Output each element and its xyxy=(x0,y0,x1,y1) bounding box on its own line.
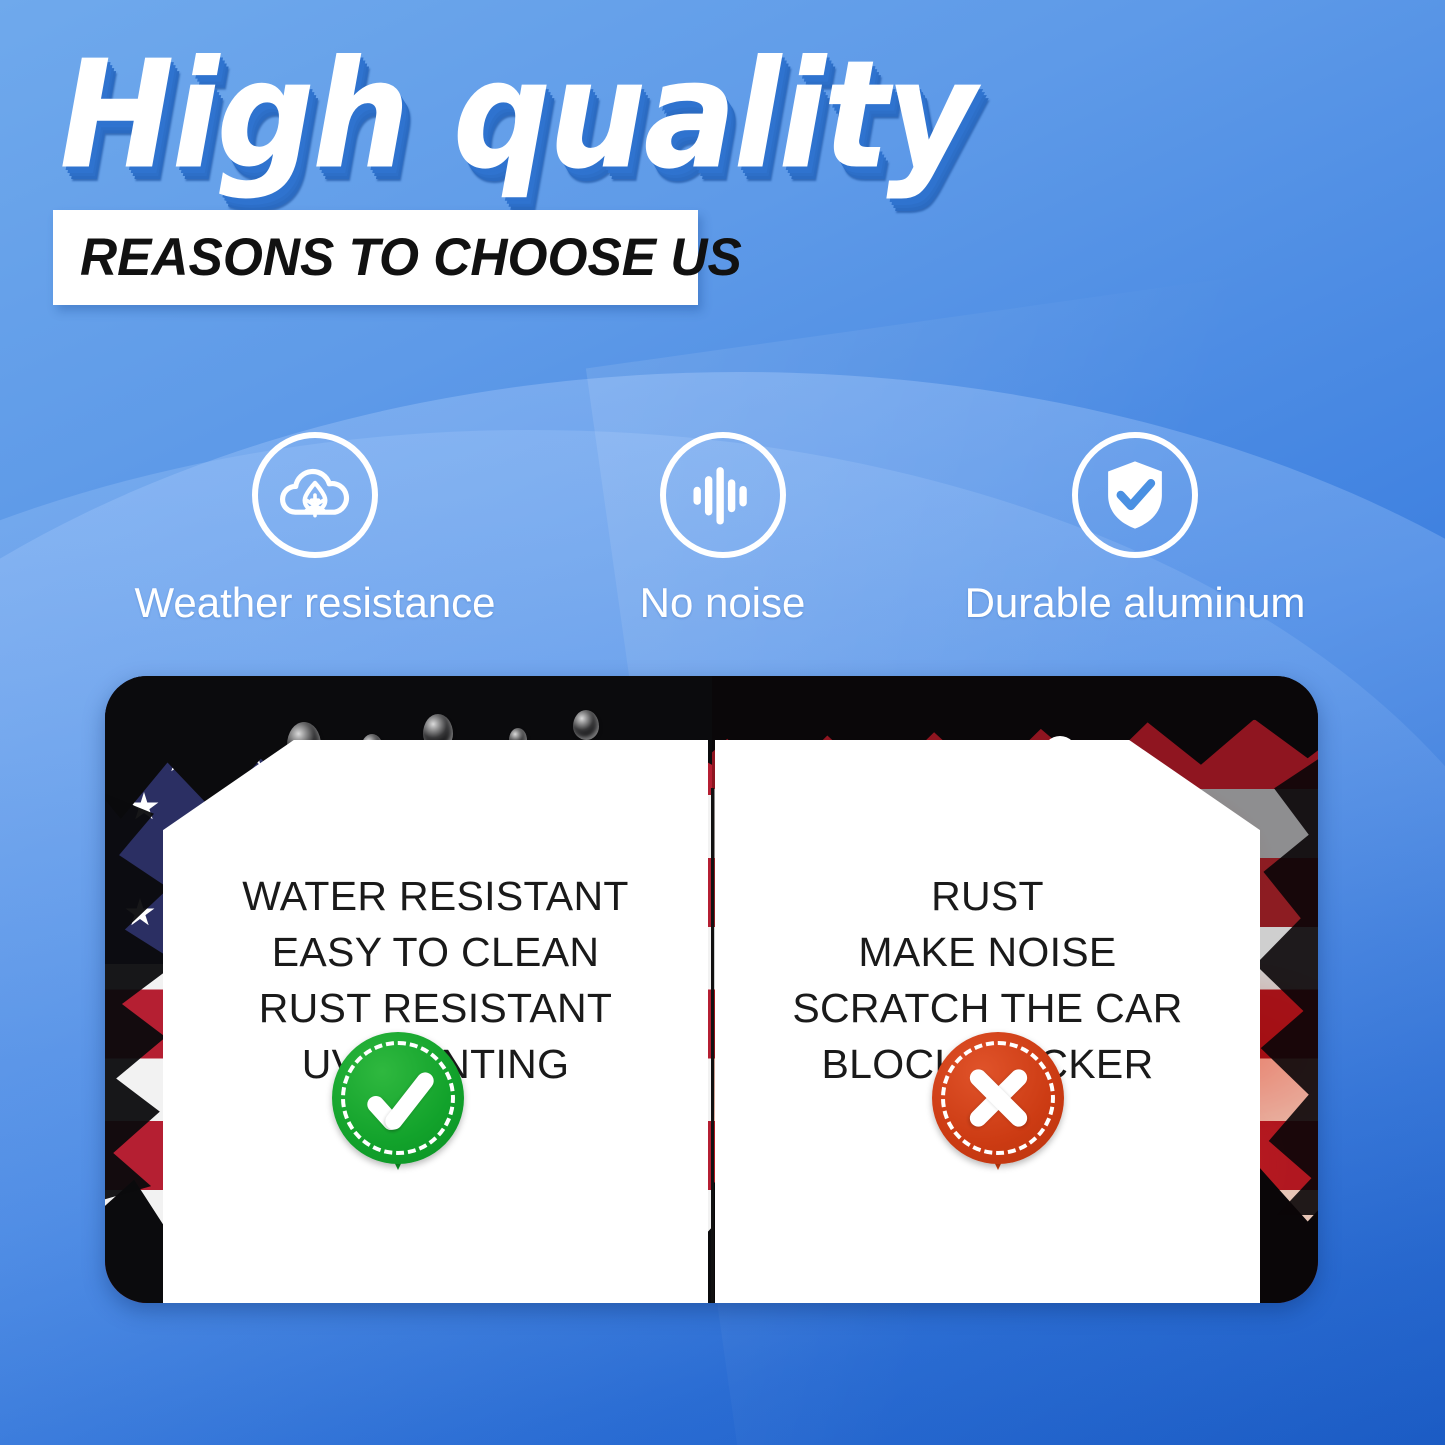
feature-label: No noise xyxy=(640,580,806,626)
pin-disc xyxy=(932,1032,1064,1164)
cross-icon xyxy=(959,1059,1037,1137)
infographic-canvas: High quality REASONS TO CHOOSE US xyxy=(0,0,1445,1445)
bad-verdict-badge xyxy=(932,1032,1064,1164)
sound-wave-icon xyxy=(660,432,786,558)
feature-no-noise: No noise xyxy=(560,432,885,626)
page-title: High quality xyxy=(60,40,1026,190)
license-plate-frame: WATER RESISTANT EASY TO CLEAN RUST RESIS… xyxy=(105,676,1318,1303)
feature-durable-aluminum: Durable aluminum xyxy=(965,432,1305,626)
shield-check-icon xyxy=(1072,432,1198,558)
mounting-hole xyxy=(1043,736,1077,770)
list-item: EASY TO CLEAN xyxy=(163,924,708,980)
good-verdict-badge xyxy=(332,1032,464,1164)
text-panel-good: WATER RESISTANT EASY TO CLEAN RUST RESIS… xyxy=(163,740,708,1303)
pin-disc xyxy=(332,1032,464,1164)
list-item: RUST xyxy=(715,868,1260,924)
feature-label: Weather resistance xyxy=(134,580,495,626)
check-icon xyxy=(359,1059,437,1137)
water-droplet xyxy=(573,710,599,740)
list-item: MAKE NOISE xyxy=(715,924,1260,980)
subtitle-banner: REASONS TO CHOOSE US xyxy=(53,210,698,305)
subtitle-text: REASONS TO CHOOSE US xyxy=(80,231,742,284)
feature-row: Weather resistance No noise xyxy=(0,432,1445,647)
cloud-rain-snow-icon xyxy=(252,432,378,558)
panel-divider xyxy=(711,788,714,1303)
text-panel-bad: RUST MAKE NOISE SCRATCH THE CAR BLOCK ST… xyxy=(715,740,1260,1303)
list-item: SCRATCH THE CAR xyxy=(715,980,1260,1036)
feature-label: Durable aluminum xyxy=(965,580,1306,626)
list-item: RUST RESISTANT xyxy=(163,980,708,1036)
feature-weather-resistance: Weather resistance xyxy=(150,432,480,626)
list-item: WATER RESISTANT xyxy=(163,868,708,924)
